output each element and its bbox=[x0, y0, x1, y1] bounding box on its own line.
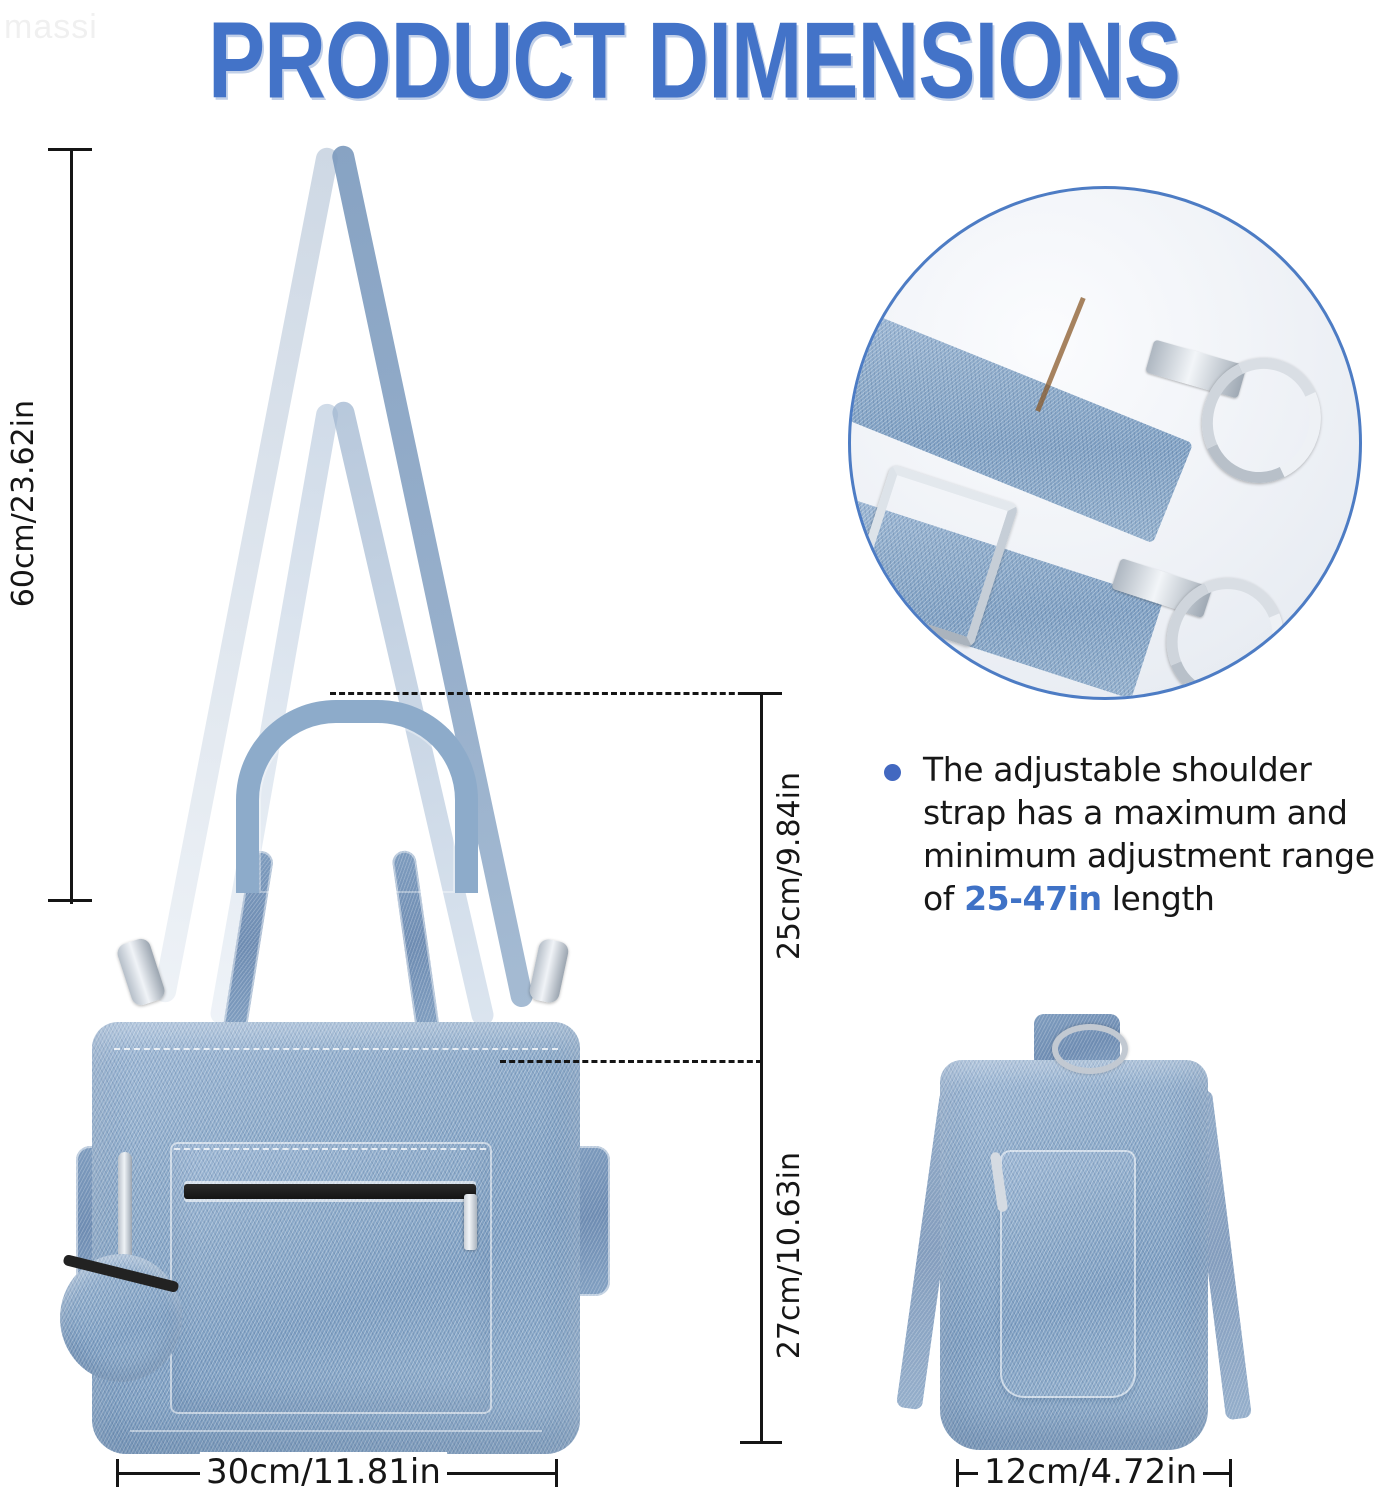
bag-pocket-stitch bbox=[174, 1148, 486, 1150]
feature-bullet: The adjustable shoulder strap has a maxi… bbox=[884, 748, 1384, 920]
denim-tote-front bbox=[92, 1022, 580, 1454]
bullet-dot-icon bbox=[884, 764, 901, 781]
feature-highlight: 25-47in bbox=[964, 879, 1102, 918]
bag-top-stitch bbox=[114, 1048, 558, 1050]
leader-line-handle-bottom bbox=[500, 1060, 762, 1063]
dim-label-body-height: 27cm/10.63in bbox=[772, 1152, 807, 1359]
d-ring-icon bbox=[1052, 1024, 1128, 1074]
dim-line-handle-height bbox=[760, 692, 763, 1064]
dim-line-strap-length bbox=[70, 148, 73, 904]
strap-clasp-detail-photo bbox=[848, 186, 1362, 700]
bag-front-zipper-pull-icon bbox=[464, 1194, 477, 1250]
leader-line-handle-top bbox=[330, 692, 762, 695]
dim-label-body-width: 30cm/11.81in bbox=[200, 1452, 447, 1492]
bag-handle-arch bbox=[236, 700, 478, 893]
dim-line-body-height bbox=[760, 1060, 763, 1444]
bag-side-front-pocket bbox=[1000, 1150, 1136, 1398]
page-title: PRODUCT DIMENSIONS bbox=[49, 2, 1340, 120]
dim-label-strap-length: 60cm/23.62in bbox=[6, 400, 41, 607]
dim-cap-width-right bbox=[555, 1459, 558, 1487]
feature-bullet-text: The adjustable shoulder strap has a maxi… bbox=[923, 748, 1384, 920]
dim-cap-width-left bbox=[116, 1459, 119, 1487]
dim-cap-strap-top bbox=[48, 148, 92, 151]
coin-purse-clip-icon bbox=[118, 1152, 132, 1264]
dim-cap-depth-left bbox=[956, 1459, 959, 1487]
bag-bottom-stitch bbox=[130, 1430, 542, 1432]
dim-cap-body-bottom bbox=[740, 1441, 782, 1444]
dim-cap-depth-right bbox=[1229, 1459, 1232, 1487]
bag-front-zipper bbox=[184, 1184, 476, 1199]
feature-text-after: length bbox=[1102, 879, 1215, 918]
dim-label-body-depth: 12cm/4.72in bbox=[978, 1452, 1203, 1492]
dim-cap-handle-top bbox=[740, 692, 782, 695]
bag-front-pocket bbox=[170, 1142, 492, 1414]
dim-cap-strap-bottom bbox=[48, 899, 92, 902]
dim-label-handle-height: 25cm/9.84in bbox=[772, 772, 807, 960]
